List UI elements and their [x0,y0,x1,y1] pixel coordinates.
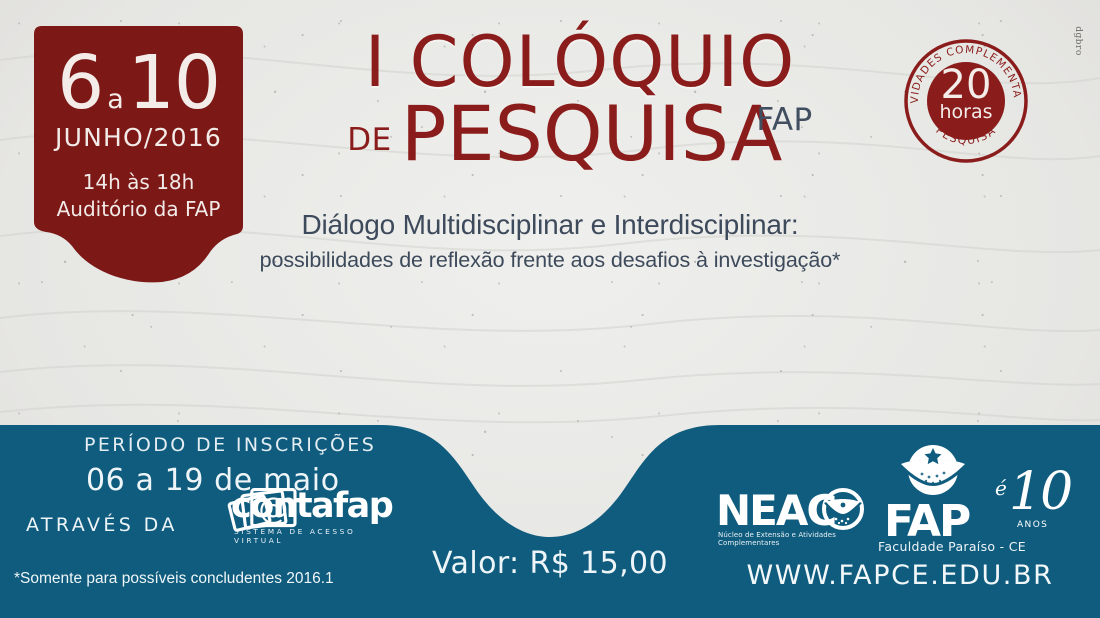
title-block: I COLÓQUIO DE PESQUISA FAP [300,28,860,169]
date-separator: a [107,89,124,112]
website-url[interactable]: WWW.FAPCE.EDU.BR [700,560,1100,591]
subtitle-line-2: possibilidades de reflexão frente aos de… [0,248,1100,273]
contafap-tagline: SISTEMA DE ACESSO VIRTUAL [234,527,365,545]
event-time: 14h às 18h [34,169,243,195]
day-start: 6 [57,52,103,114]
contafap-logo[interactable]: @ contafap SISTEMA DE ACESSO VIRTUAL [165,480,365,546]
seal-unit: horas [939,101,992,123]
bottom-info-band: PERÍODO DE INSCRIÇÕES 06 a 19 de maio AT… [0,400,1100,618]
contafap-wordmark: contafap [231,486,392,526]
through-label: ATRAVÉS DA [26,514,178,536]
event-poster: 6 a 10 JUNHO/2016 14h às 18h Auditório d… [0,0,1100,618]
complementary-hours-seal: ATIVIDADES COMPLEMENTARES PESQUISA 20 ho… [903,38,1029,164]
day-end: 10 [128,52,220,114]
title-line-1: I COLÓQUIO [300,28,860,97]
title-de: DE [347,122,391,158]
title-pesquisa: PESQUISA [401,99,783,169]
subtitle-line-1: Diálogo Multidisciplinar e Interdiscipli… [0,208,1100,242]
title-fap-superscript: FAP [756,102,812,138]
registration-period-label: PERÍODO DE INSCRIÇÕES [84,434,376,456]
date-range: 6 a 10 [34,52,243,114]
corner-signature: dgbro [1073,26,1083,56]
month-year: JUNHO/2016 [34,123,243,152]
title-line-2: DE PESQUISA FAP [300,99,860,169]
subtitle-block: Diálogo Multidisciplinar e Interdiscipli… [0,208,1100,273]
